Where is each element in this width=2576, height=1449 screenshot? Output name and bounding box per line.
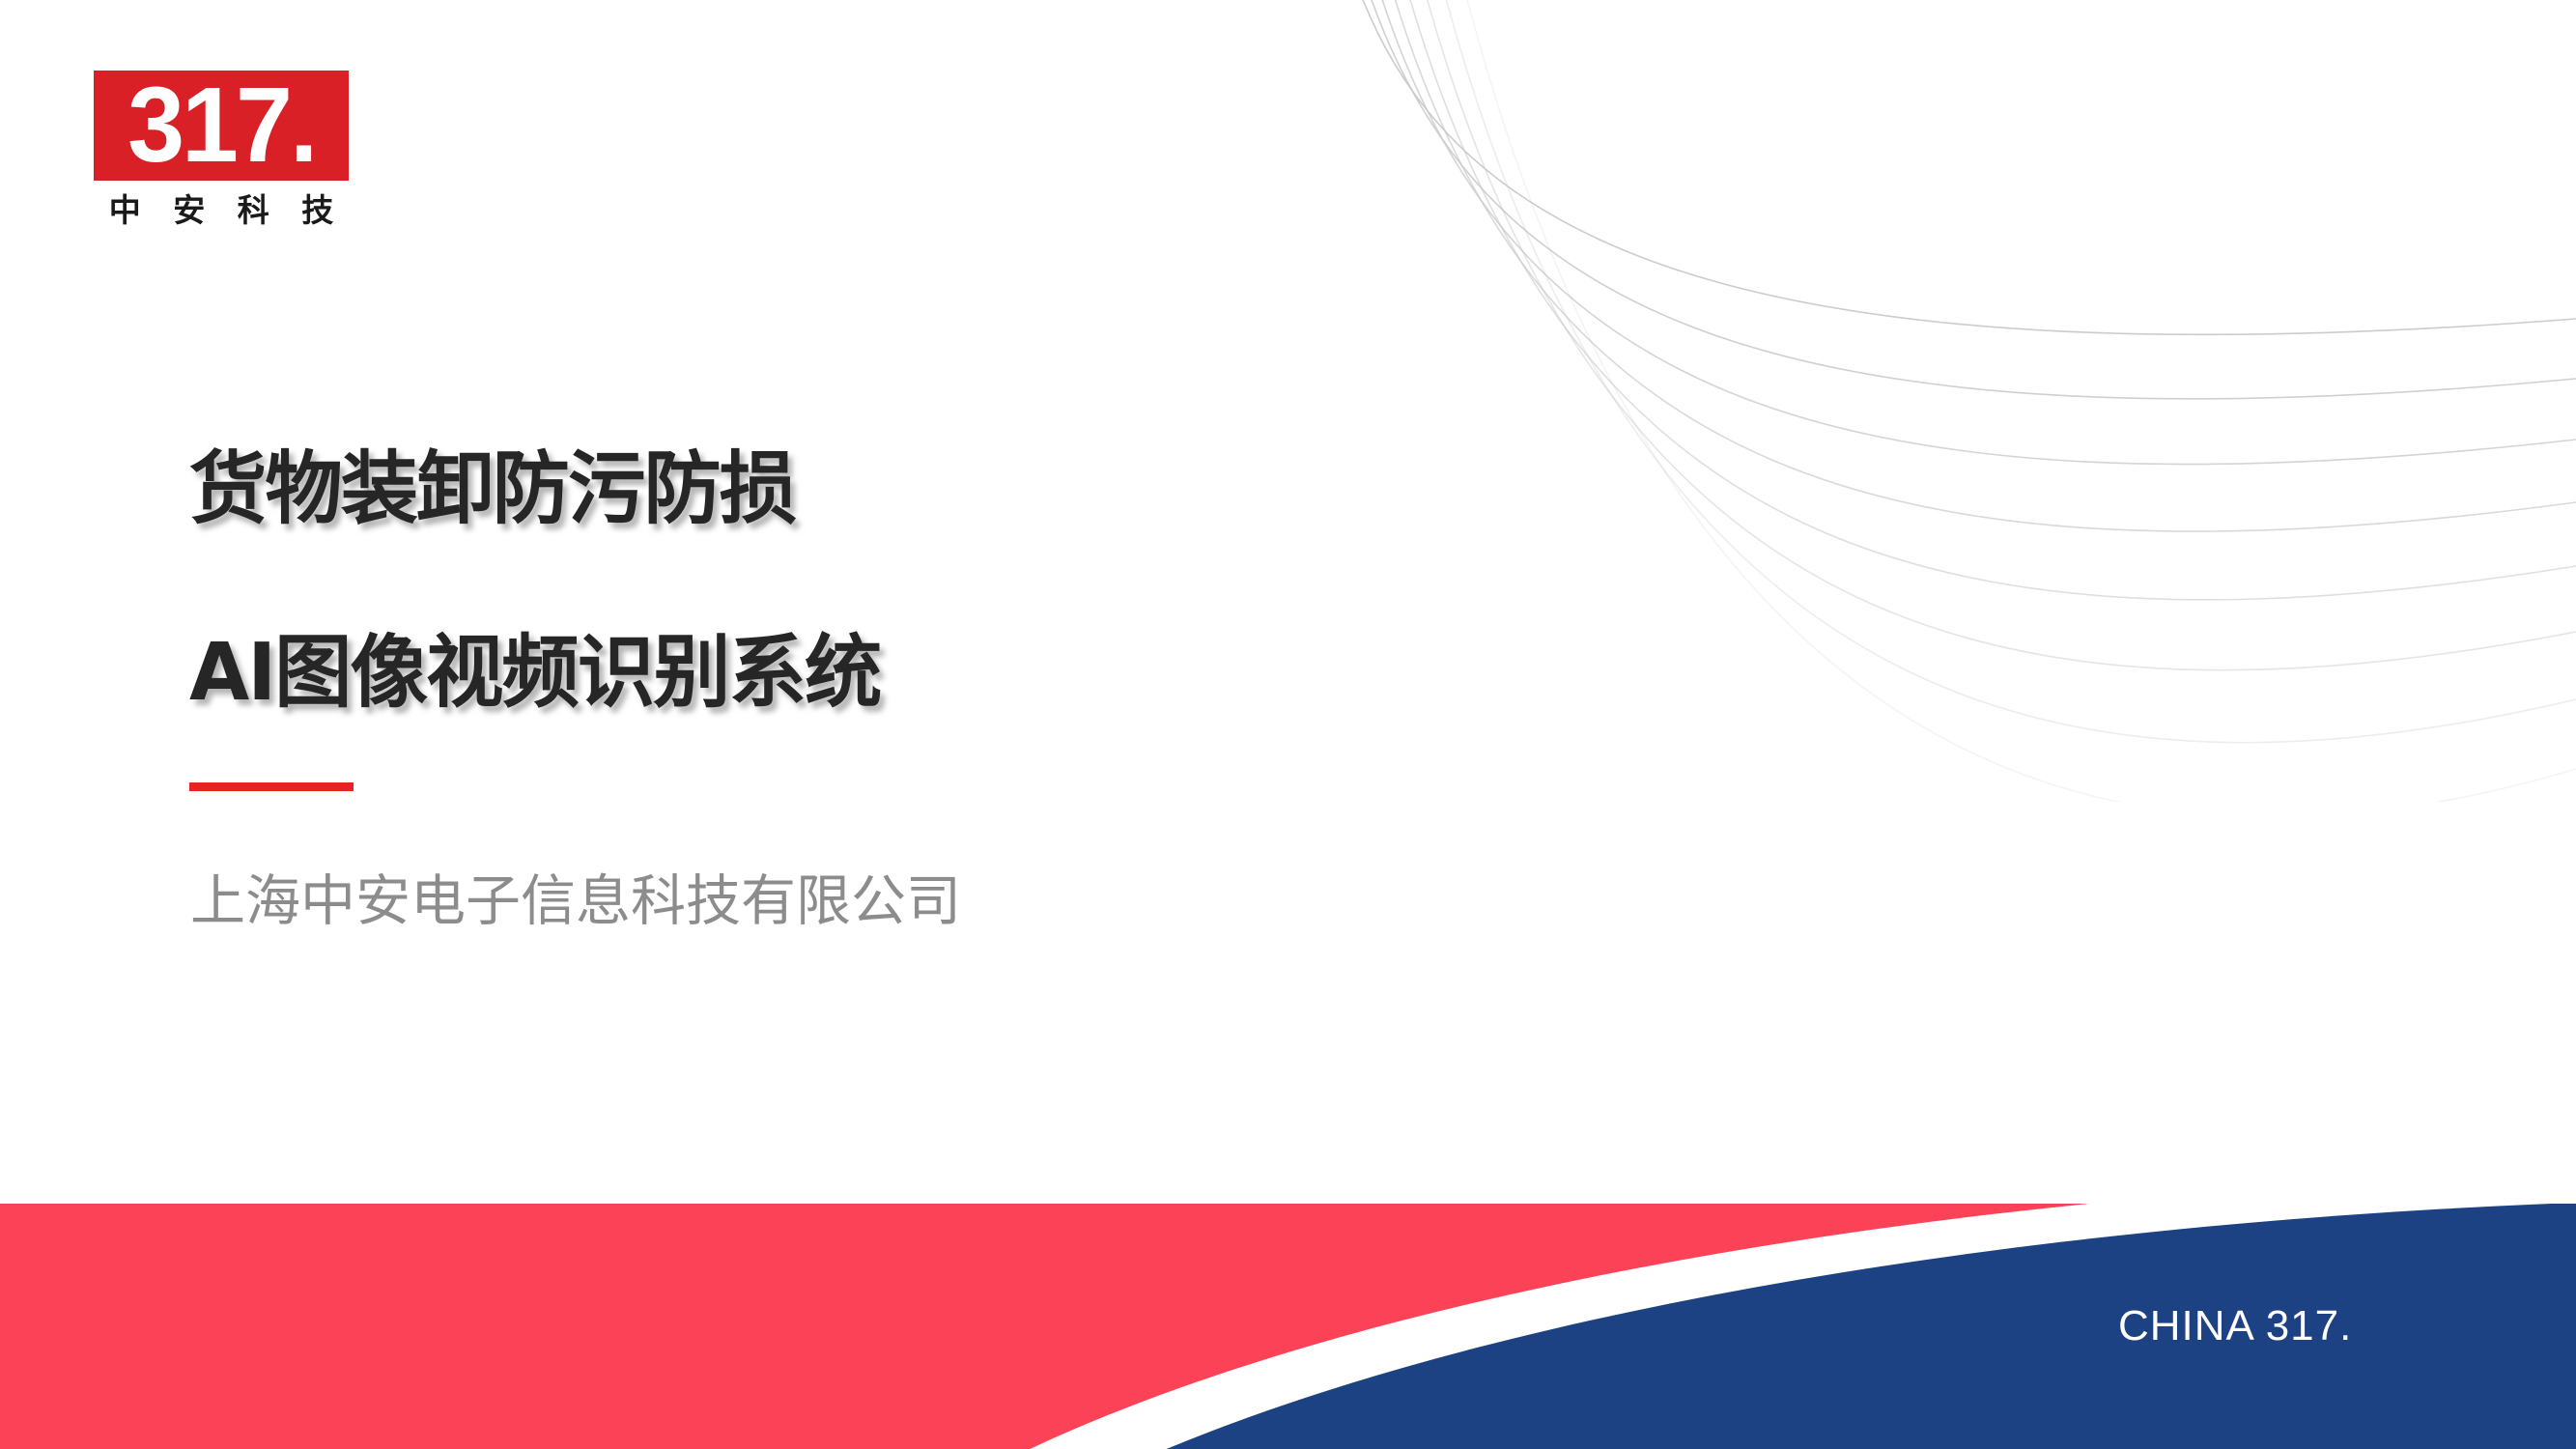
logo-mark-text: 317.	[127, 72, 315, 179]
page-title-line-1: 货物装卸防污防损	[189, 398, 880, 582]
page-title-line-2: AI图像视频识别系统	[189, 582, 880, 765]
title-accent-rule	[189, 782, 354, 791]
logo-mark-317: 317.	[94, 71, 349, 181]
decorative-arc-lines	[1320, 0, 2576, 802]
subtitle-company-name: 上海中安电子信息科技有限公司	[190, 867, 961, 935]
title-slide: 317. 中 安 科 技 货物装卸防污防损 AI图像视频识别系统 上海中安电子信…	[0, 0, 2576, 1449]
footer-brand-label: CHINA 317.	[2118, 1303, 2352, 1350]
page-title: 货物装卸防污防损 AI图像视频识别系统	[189, 398, 894, 765]
logo-company-short-name: 中 安 科 技	[94, 191, 349, 230]
company-logo: 317. 中 安 科 技	[94, 71, 351, 230]
